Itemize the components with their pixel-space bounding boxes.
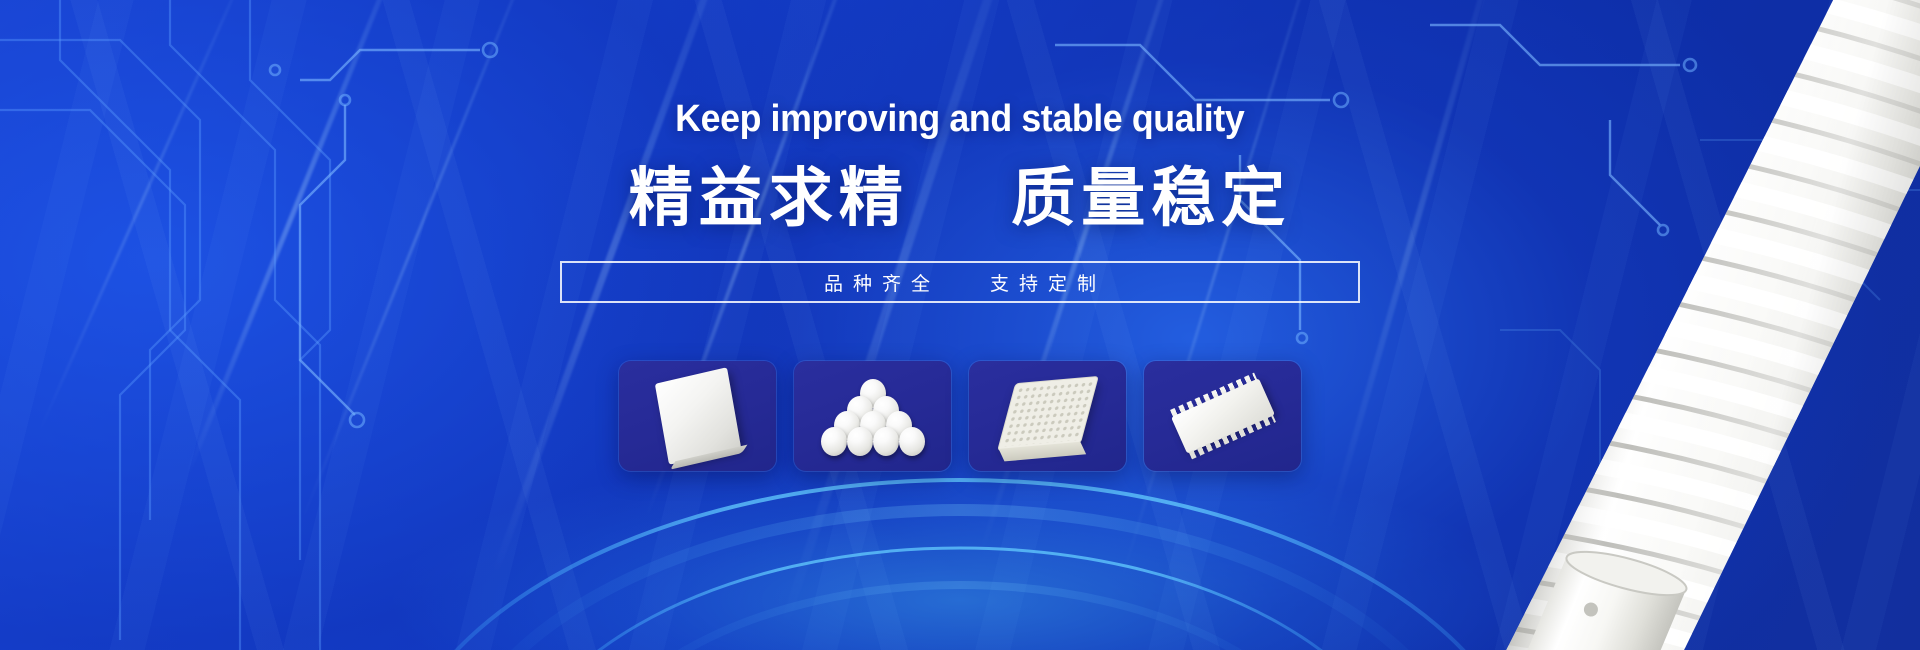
ceramic-balls-image	[794, 361, 951, 471]
ceramic-ball	[873, 427, 899, 456]
subtitle-bar: 品种齐全 支持定制	[560, 261, 1360, 303]
ceramic-tile-image	[619, 361, 776, 471]
ceramic-ball	[899, 427, 925, 456]
toothed-strip-image	[1144, 361, 1301, 471]
ceramic-balls-group	[821, 379, 925, 457]
product-card-ceramic-tile[interactable]	[619, 361, 776, 471]
subtitle-right: 支持定制	[990, 273, 1106, 295]
banner-content: Keep improving and stable quality 精益求精 质…	[0, 0, 1920, 650]
product-card-toothed-strip[interactable]	[1144, 361, 1301, 471]
english-headline: Keep improving and stable quality	[675, 98, 1244, 141]
subtitle-text: 品种齐全 支持定制	[814, 269, 1106, 296]
ceramic-ball	[847, 427, 873, 456]
product-card-list	[619, 361, 1301, 471]
toothed-strip-shape	[1171, 378, 1275, 454]
honeycomb-block-shape	[998, 377, 1097, 450]
promo-banner: Keep improving and stable quality 精益求精 质…	[0, 0, 1920, 650]
product-card-honeycomb-block[interactable]	[969, 361, 1126, 471]
subtitle-left: 品种齐全	[824, 273, 940, 295]
chinese-headline-left: 精益求精	[629, 162, 909, 236]
english-headline-part1: Keep improving	[675, 98, 940, 140]
product-card-ceramic-balls[interactable]	[794, 361, 951, 471]
chinese-headline: 精益求精 质量稳定	[629, 147, 1292, 239]
chinese-headline-right: 质量稳定	[1011, 162, 1291, 236]
honeycomb-block-image	[969, 361, 1126, 471]
honeycomb-holes	[1002, 380, 1094, 446]
ceramic-tile-shape	[654, 367, 740, 465]
english-headline-part2: and stable quality	[950, 98, 1245, 140]
ceramic-ball	[821, 427, 847, 456]
